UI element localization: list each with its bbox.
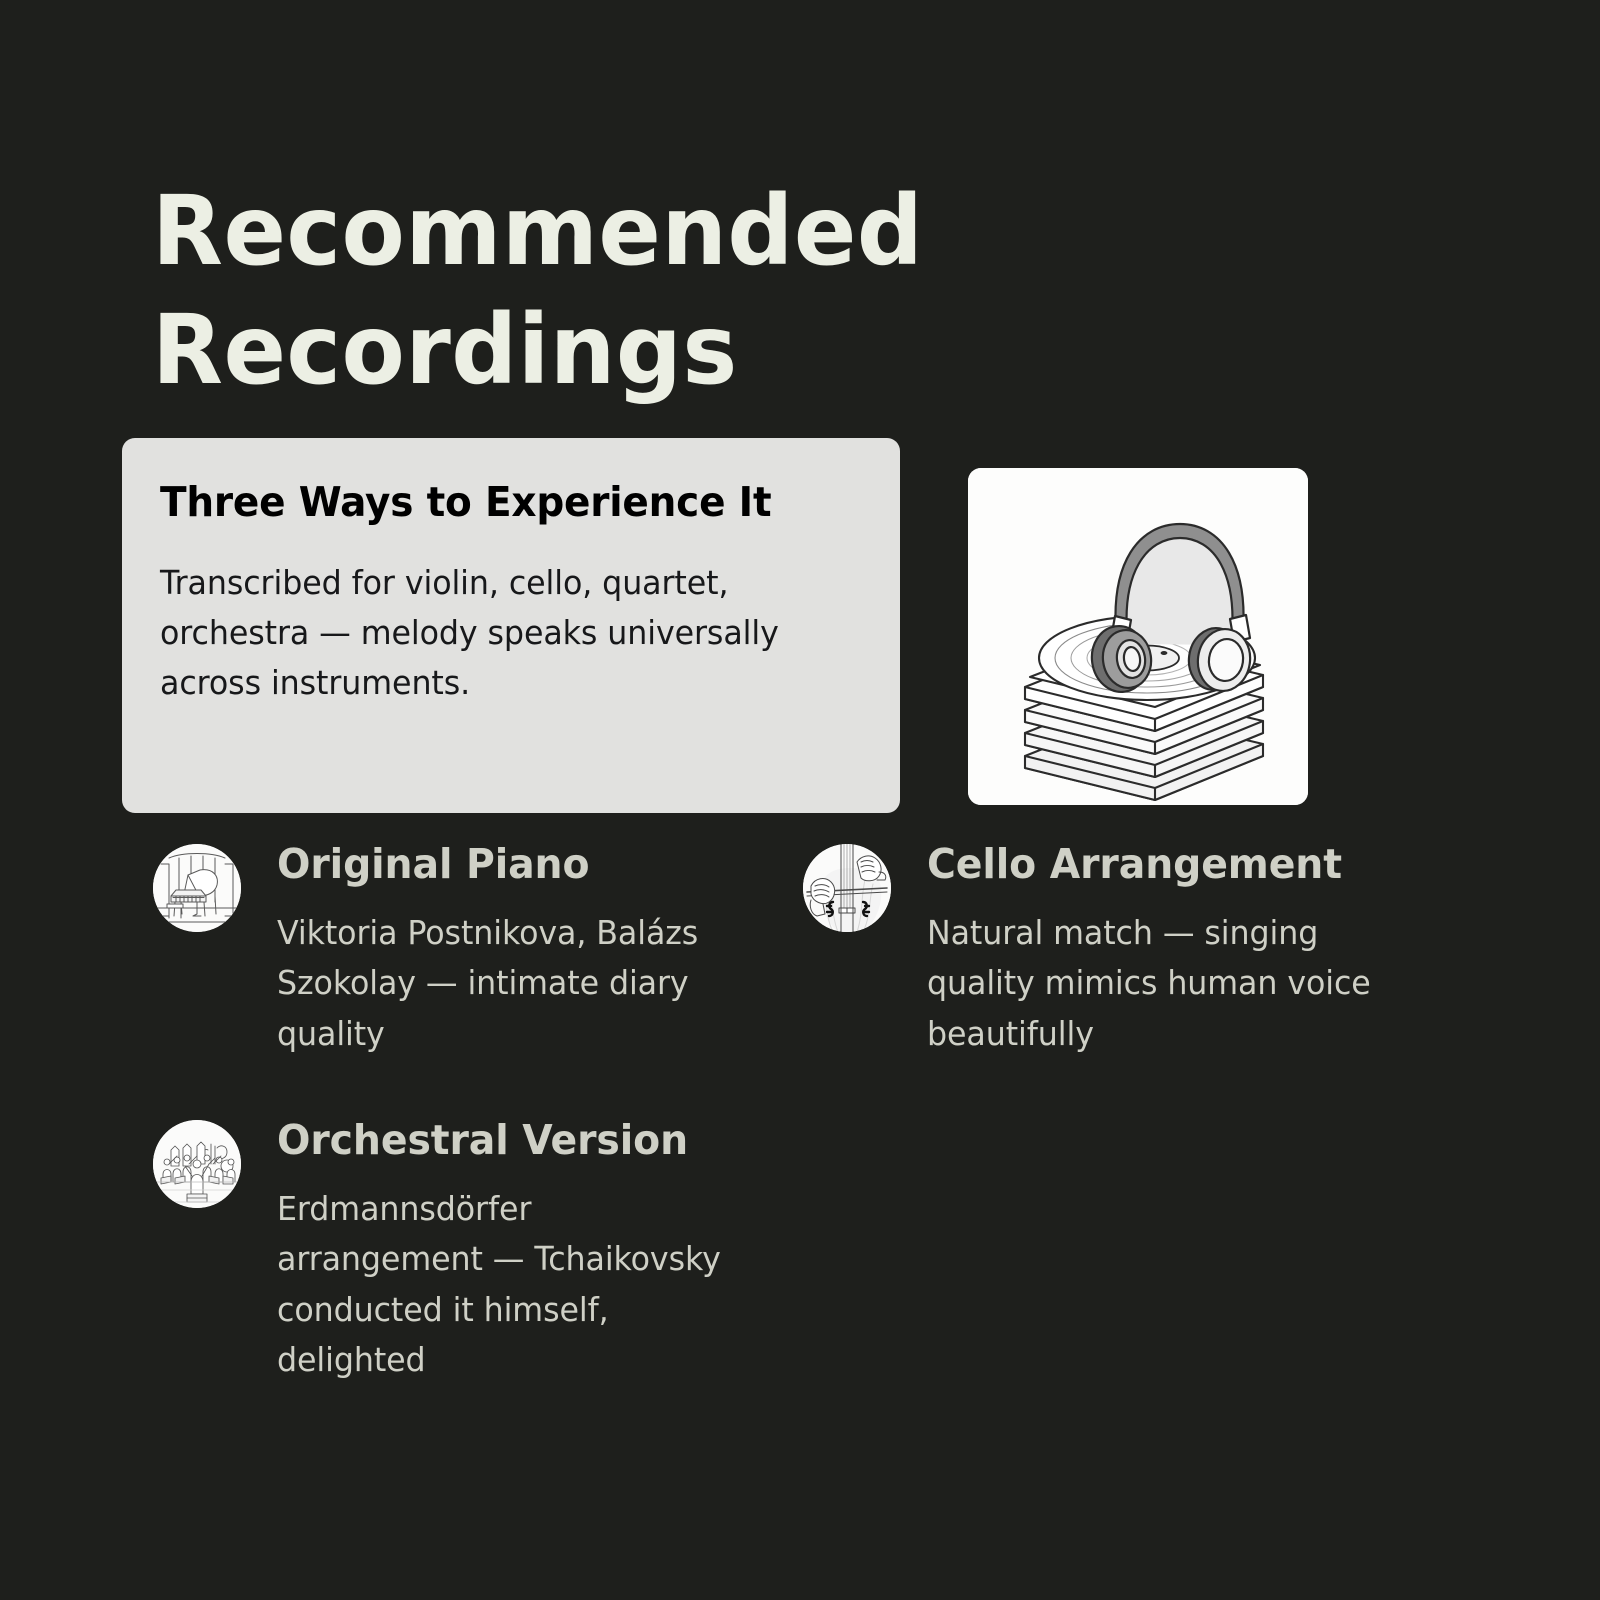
- recording-item-description: Natural match — singing quality mimics h…: [927, 908, 1378, 1059]
- poster-root: Recommended Recordings Three Ways to Exp…: [0, 0, 1600, 1600]
- info-card: Three Ways to Experience It Transcribed …: [122, 438, 900, 813]
- page-title: Recommended Recordings: [152, 172, 939, 410]
- page-title-line-2: Recordings: [152, 291, 939, 410]
- orchestra-ensemble-icon: [153, 1120, 241, 1208]
- recording-item-description: Erdmannsdörfer arrangement — Tchaikovsky…: [277, 1184, 728, 1386]
- recording-item-description: Viktoria Postnikova, Balázs Szokolay — i…: [277, 908, 753, 1059]
- recording-item-text: Cello Arrangement Natural match — singin…: [927, 844, 1403, 1059]
- recording-item-text: Original Piano Viktoria Postnikova, Balá…: [277, 844, 773, 1059]
- cello-hands-icon: [803, 844, 891, 932]
- recording-item-text: Orchestral Version Erdmannsdörfer arrang…: [277, 1120, 753, 1386]
- recording-item-title: Cello Arrangement: [927, 844, 1384, 885]
- recording-item-title: Orchestral Version: [277, 1120, 734, 1161]
- info-card-body: Transcribed for violin, cello, quartet, …: [160, 558, 830, 708]
- grand-piano-icon: [153, 844, 241, 932]
- page-title-line-1: Recommended: [152, 172, 939, 291]
- info-card-title: Three Ways to Experience It: [160, 480, 823, 525]
- recording-item-orchestral[interactable]: Orchestral Version Erdmannsdörfer arrang…: [153, 1120, 753, 1386]
- recording-item-piano[interactable]: Original Piano Viktoria Postnikova, Balá…: [153, 844, 773, 1059]
- recording-item-title: Original Piano: [277, 844, 753, 885]
- recording-item-cello[interactable]: Cello Arrangement Natural match — singin…: [803, 844, 1403, 1059]
- headphones-on-vinyl-records-illustration: [968, 468, 1308, 805]
